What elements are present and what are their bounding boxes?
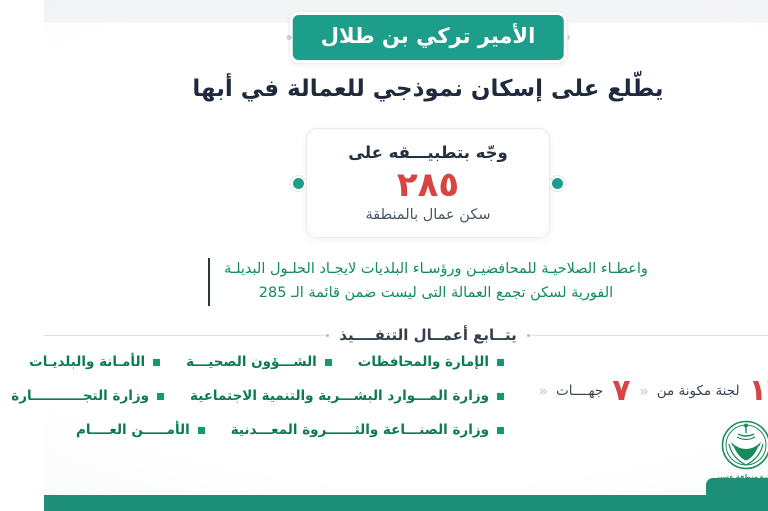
entity-row: وزارة المـــوارد البشـــرية والتنمية الا… [0,388,460,404]
divider-line-right [486,335,768,336]
chevron-left-icon: « [495,384,503,399]
bullet-square-icon [154,427,161,434]
directive-text: واعطـاء الصلاحيـة للمحافضيـن ورؤسـاء الب… [180,258,604,306]
chevron-right-icon: « [596,384,604,399]
stat-card-group: وجّه بتطبيـــقه على ٢٨٥ سكن عمال بالمنطق… [253,128,515,238]
entity-label: وزارة الصنـــاعة والثــــــروة المعـــدن… [187,422,445,438]
title-badge-group: الأمير تركي بن طلال [243,12,526,63]
entity-count-label: جهــــات [512,383,559,399]
directive-block: واعطـاء الصلاحيـة للمحافضيـن ورؤسـاء الب… [0,258,768,306]
divider-line-left [0,335,282,336]
divider-dot-left [282,334,285,337]
footer-bar [0,495,768,511]
bullet-square-icon [453,427,460,434]
stat-card-dot-right [506,176,521,191]
infographic-canvas: الأمير تركي بن طلال يطّلع على إسكان نموذ… [0,0,768,511]
stat-card-number: ٢٨٥ [273,166,495,205]
divider-dot-right [483,334,486,337]
bottom-section: ١٧ لجنة مكونة من « ٧ جهــــات « الإمارة … [0,348,768,468]
emblem-icon [673,420,731,472]
bullet-square-icon [453,359,460,366]
stat-card-dot-left [247,176,262,191]
committee-count: ١٧ [705,376,742,406]
stat-card: وجّه بتطبيـــقه على ٢٨٥ سكن عمال بالمنطق… [262,128,506,238]
bullet-square-icon [281,359,288,366]
entity-row: وزارة الصنـــاعة والثــــــروة المعـــدن… [0,422,460,438]
bullet-square-icon [113,393,120,400]
section-divider: يتــابع أعمــال التنفــــيذ [0,320,768,350]
entity-label: الشـــؤون الصحيـــة [142,354,273,370]
entity-label: وزارة المـــوارد البشـــرية والتنمية الا… [146,388,445,404]
page-headline: يطّلع على إسكان نموذجي للعمالة في أبها [0,75,768,105]
entity-list: الإمارة والمحافظات الشـــؤون الصحيـــة ا… [0,348,468,468]
stat-card-top-label: وجّه بتطبيـــقه على [273,143,495,162]
entity-label: الأمـانة والبلديـات [0,354,101,370]
entity-count: ٧ [568,376,586,406]
corner-marker-dot [752,424,760,432]
entity-label: وزارة التجـــــــــــارة [0,388,105,404]
title-badge: الأمير تركي بن طلال [246,12,523,63]
asir-emirate-emblem: إمارة منطقة عسير المملكة العربية السعودي… [656,420,748,487]
bullet-square-icon [109,359,116,366]
bullet-square-icon [453,393,460,400]
divider-label: يتــابع أعمــال التنفــــيذ [285,326,482,344]
stat-card-sub-label: سكن عمال بالمنطقة [273,207,495,223]
footer-tab [662,478,732,495]
entity-row: الإمارة والمحافظات الشـــؤون الصحيـــة ا… [0,354,460,370]
committee-summary: ١٧ لجنة مكونة من « ٧ جهــــات « [468,348,768,406]
directive-line-1: واعطـاء الصلاحيـة للمحافضيـن ورؤسـاء الب… [180,261,604,277]
entity-label: الأمـــــن العــــام [32,422,146,438]
entity-label: الإمارة والمحافظات [314,354,445,370]
committee-label: لجنة مكونة من [613,383,696,399]
directive-line-2: الفورية لسكن تجمع العمالة التى ليست ضمن … [215,285,569,301]
directive-accent-bar [164,258,166,306]
